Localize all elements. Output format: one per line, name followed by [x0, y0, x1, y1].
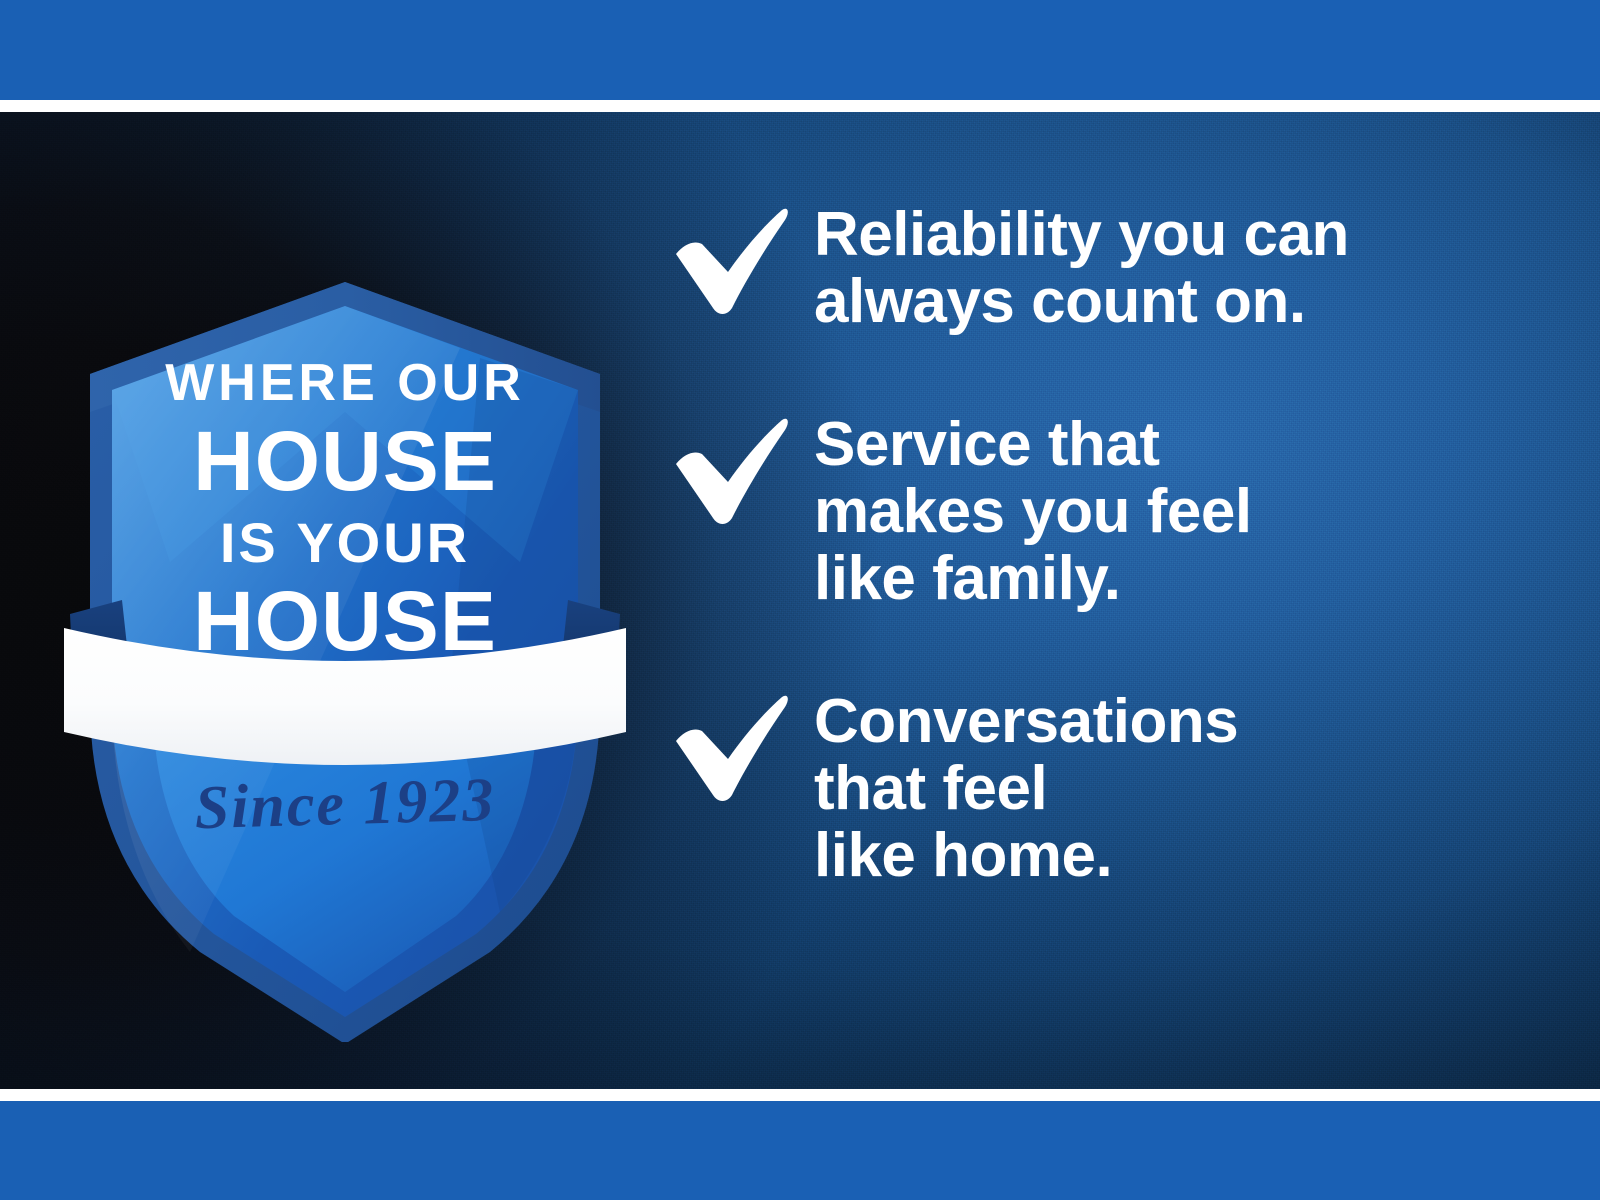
top-brand-bar: [0, 0, 1600, 100]
bottom-brand-bar: [0, 1101, 1600, 1200]
checkmark-icon: [672, 691, 790, 803]
benefit-line: like family.: [814, 546, 1252, 613]
shield-line-3: IS YOUR: [60, 515, 630, 571]
shield-badge: WHERE OUR HOUSE IS YOUR HOUSE Since 1923: [60, 262, 630, 1042]
benefit-line: like home.: [814, 823, 1238, 890]
shield-line-1: WHERE OUR: [60, 357, 630, 409]
benefit-item: Reliability you can always count on.: [672, 200, 1532, 336]
benefit-line: that feel: [814, 756, 1238, 823]
shield-line-4: HOUSE: [60, 579, 630, 663]
benefit-line: Reliability you can: [814, 202, 1349, 269]
promo-graphic-canvas: WHERE OUR HOUSE IS YOUR HOUSE Since 1923…: [0, 0, 1600, 1200]
benefit-line: always count on.: [814, 269, 1349, 336]
benefit-item: Service that makes you feel like family.: [672, 410, 1532, 613]
shield-line-2: HOUSE: [60, 419, 630, 503]
benefit-item: Conversations that feel like home.: [672, 687, 1532, 890]
benefit-text: Conversations that feel like home.: [814, 687, 1238, 890]
main-stage: WHERE OUR HOUSE IS YOUR HOUSE Since 1923…: [0, 112, 1600, 1089]
benefit-text: Service that makes you feel like family.: [814, 410, 1252, 613]
bottom-white-divider: [0, 1089, 1600, 1101]
benefit-line: makes you feel: [814, 479, 1252, 546]
benefit-line: Service that: [814, 412, 1252, 479]
benefit-line: Conversations: [814, 689, 1238, 756]
benefit-text: Reliability you can always count on.: [814, 200, 1349, 336]
top-white-divider: [0, 100, 1600, 112]
shield-wordmark: WHERE OUR HOUSE IS YOUR HOUSE: [60, 357, 630, 663]
checkmark-icon: [672, 414, 790, 526]
checkmark-icon: [672, 204, 790, 316]
benefits-list: Reliability you can always count on. Ser…: [672, 200, 1532, 890]
